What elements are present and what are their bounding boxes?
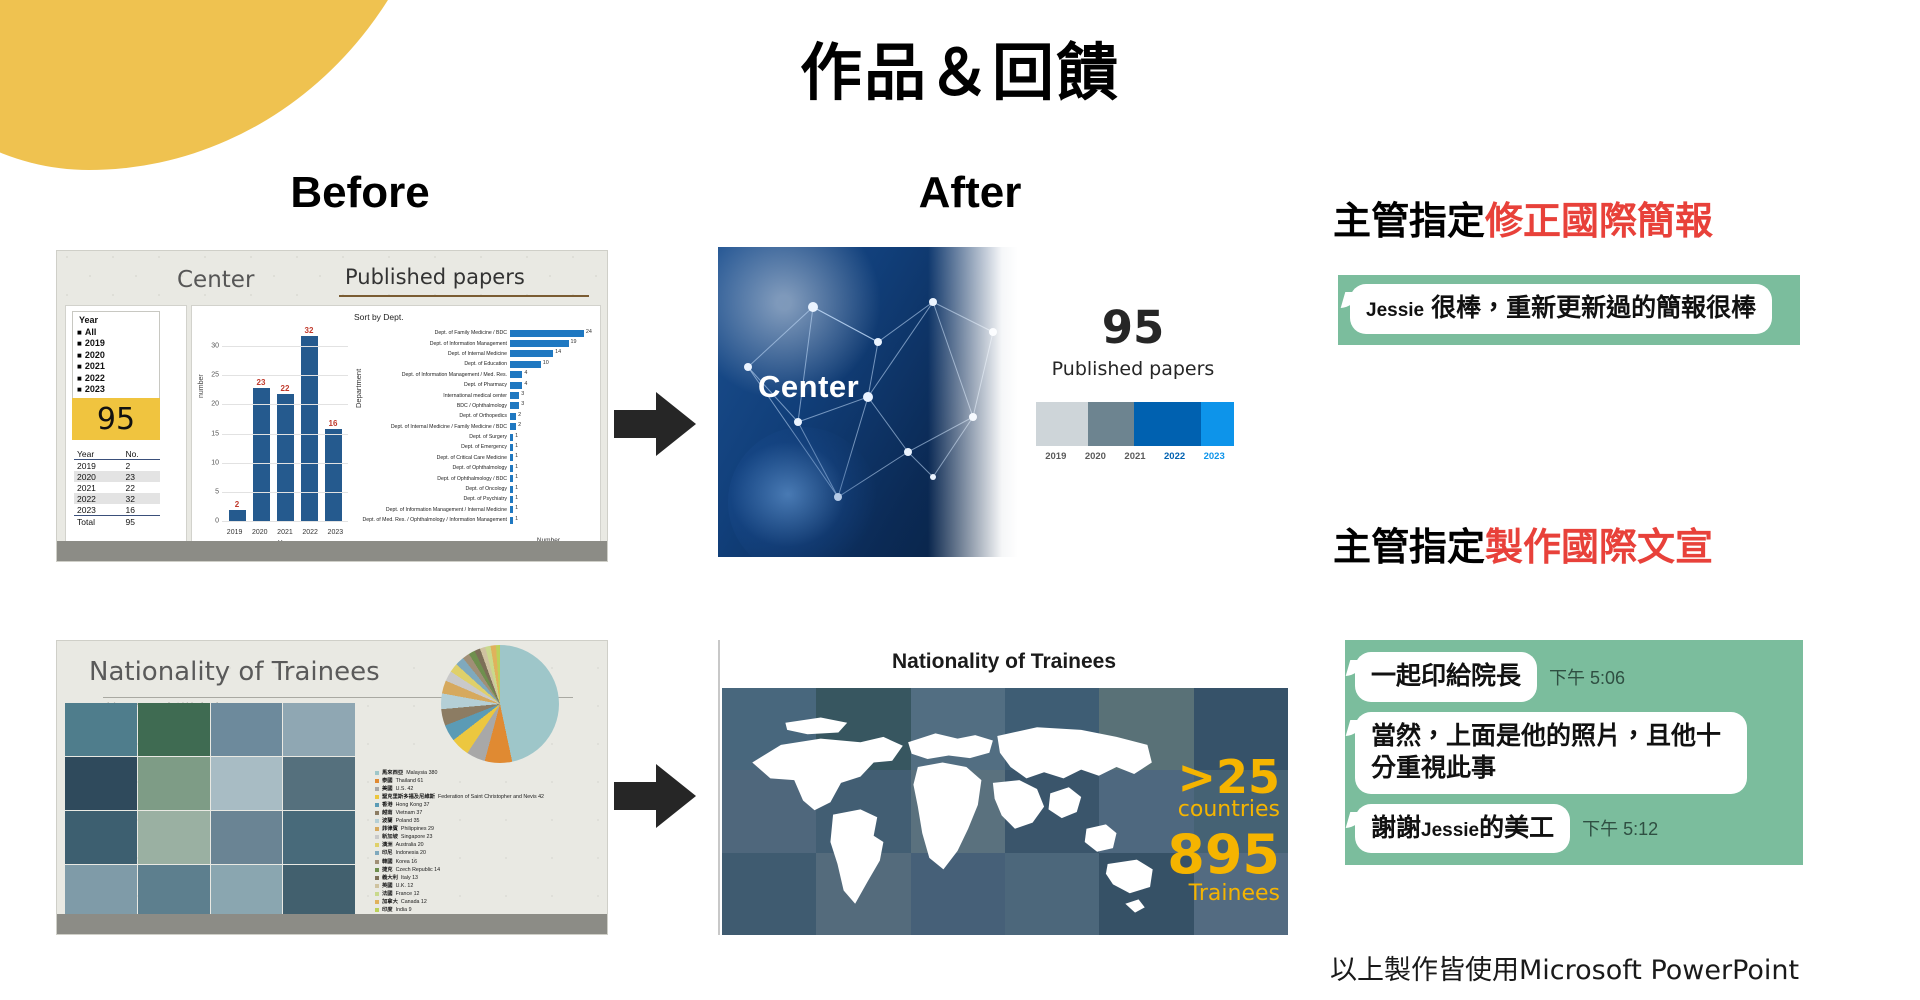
dept-bar-value: 24 — [586, 329, 592, 335]
dept-bar-value: 1 — [515, 443, 518, 449]
collage-tile — [138, 865, 210, 918]
legend-item: 印度India 9 — [375, 906, 605, 914]
legend-label-zh: 泰國 — [382, 777, 393, 785]
bar-value-label: 22 — [281, 384, 290, 393]
dept-bar — [510, 517, 513, 524]
collage-tile — [138, 811, 210, 864]
chat-bubble: 當然，上面是他的照片，且他十分重視此事 — [1355, 712, 1747, 794]
legend-item: 捷克Czech Republic 14 — [375, 866, 605, 874]
arrow-right-icon — [612, 760, 698, 832]
chat-sender-name: Jessie — [1421, 820, 1479, 841]
legend-label-en: Vietnam 37 — [396, 809, 423, 817]
papers-by-year-column-chart: number 223223216 302520151050 2019202020… — [200, 312, 350, 548]
x-tick-label: 2021 — [277, 529, 293, 536]
gridline: 25 — [222, 375, 348, 376]
chat-thread-1: Jessie 很棒，重新更新過的簡報很棒 — [1338, 275, 1800, 345]
dept-bar-track: 3 — [510, 402, 594, 409]
legend-label-en: Italy 13 — [401, 874, 418, 882]
legend-label-zh: 美國 — [382, 785, 393, 793]
dept-bar-row: Dept. of Ophthalmology / BDC1 — [362, 473, 594, 483]
dept-name: Dept. of Orthopedics — [362, 413, 510, 419]
cell-count: 22 — [123, 482, 160, 493]
cell-year: 2022 — [74, 493, 123, 504]
legend-swatch — [375, 892, 379, 896]
dept-bar-row: Dept. of Psychiatry1 — [362, 494, 594, 504]
dept-bar-track: 3 — [510, 392, 594, 399]
year-segment-label: 2023 — [1194, 451, 1234, 462]
legend-swatch — [375, 876, 379, 880]
cell-count: 32 — [123, 493, 160, 504]
published-papers-stat: 95 Published papers — [1023, 305, 1243, 380]
dept-bar-value: 4 — [524, 381, 527, 387]
dept-bar-value: 1 — [515, 474, 518, 480]
year-segment-label: 2019 — [1036, 451, 1076, 462]
legend-label-en: Poland 35 — [396, 817, 420, 825]
slide-title-center: Center — [177, 267, 254, 293]
legend-label-zh: 聖克里斯多福及尼維斯 — [382, 793, 435, 801]
legend-label-en: Thailand 61 — [396, 777, 424, 785]
legend-item: 義大利Italy 13 — [375, 874, 605, 882]
cell-year: 2023 — [74, 504, 123, 516]
dept-name: Dept. of Oncology — [362, 486, 510, 492]
legend-label-en: Australia 20 — [396, 841, 424, 849]
chat-message: 謝謝Jessie的美工 下午 5:12 — [1355, 804, 1793, 854]
dept-name: Dept. of Internal Medicine / Family Medi… — [362, 424, 510, 430]
table-row: Total95 — [74, 516, 160, 528]
collage-tile — [211, 757, 283, 810]
dept-bar-row: Dept. of Internal Medicine14 — [362, 349, 594, 359]
legend-label-zh: 捷克 — [382, 866, 393, 874]
dept-bar-row: International medical center3 — [362, 390, 594, 400]
dept-bar — [510, 486, 513, 493]
legend-label-zh: 英國 — [382, 882, 393, 890]
dept-name: Dept. of Internal Medicine — [362, 351, 510, 357]
x-tick-label: 2019 — [227, 529, 243, 536]
image-fade-edge — [928, 247, 1018, 557]
feedback-heading-2: 主管指定製作國際文宣 — [1333, 516, 1713, 571]
after-slide-published-papers[interactable]: Center 95 Published papers 2019202020212… — [718, 247, 1246, 557]
dept-bar-row: Dept. of Education10 — [362, 359, 594, 369]
legend-label-en: Federation of Saint Christopher and Nevi… — [438, 793, 544, 801]
world-map-photo-backdrop: >25 countries 895 Trainees — [722, 688, 1288, 935]
gridline: 30 — [222, 346, 348, 347]
dept-bar-value: 3 — [521, 401, 524, 407]
legend-label-zh: 澳洲 — [382, 841, 393, 849]
dept-bar — [510, 413, 516, 420]
dept-name: BDC / Ophthalmology — [362, 403, 510, 409]
dept-bar — [510, 371, 522, 378]
nationality-pie-chart — [441, 645, 559, 763]
chat-message: 一起印給院長 下午 5:06 — [1355, 652, 1793, 702]
dept-bar-row: Dept. of Pharmacy4 — [362, 380, 594, 390]
legend-label-zh: 義大利 — [382, 874, 398, 882]
feedback-heading-1-black: 主管指定 — [1333, 201, 1485, 243]
hero-word-center: Center — [758, 369, 859, 405]
cell-year: 2020 — [74, 471, 123, 482]
dept-name: Dept. of Emergency — [362, 444, 510, 450]
chat-sender-name: Jessie — [1366, 300, 1424, 321]
column-chart-ylabel: number — [198, 374, 205, 398]
hero-network-image: Center — [718, 247, 1018, 557]
column-label-before: Before — [160, 168, 560, 218]
collage-tile — [138, 757, 210, 810]
legend-item: 聖克里斯多福及尼維斯Federation of Saint Christophe… — [375, 793, 605, 801]
y-tick-label: 10 — [211, 459, 219, 466]
legend-item: 美國U.S. 42 — [375, 785, 605, 793]
collage-tile — [283, 703, 355, 756]
dept-bar-track: 14 — [510, 350, 594, 357]
dept-bar-track: 1 — [510, 475, 594, 482]
chat-message: Jessie 很棒，重新更新過的簡報很棒 — [1350, 284, 1786, 334]
legend-label-zh: 越南 — [382, 809, 393, 817]
dept-bar-track: 1 — [510, 454, 594, 461]
slide-title-published-papers: Published papers — [345, 265, 525, 289]
collage-tile — [65, 865, 137, 918]
gridline: 10 — [222, 463, 348, 464]
legend-label-en: Hong Kong 37 — [396, 801, 430, 809]
legend-swatch — [375, 851, 379, 855]
bar-value-label: 2 — [235, 500, 239, 509]
legend-label-zh: 韓國 — [382, 858, 393, 866]
charts-panel: number 223223216 302520151050 2019202020… — [191, 305, 601, 553]
dept-bar — [510, 350, 553, 357]
legend-label-zh: 菲律賓 — [382, 825, 398, 833]
nationality-legend: 馬來西亞Malaysia 380泰國Thailand 61美國U.S. 42聖克… — [375, 769, 605, 914]
year-filter-legend[interactable]: Year All 2019 2020 2021 2022 2023 — [72, 311, 160, 400]
legend-item: 韓國Korea 16 — [375, 858, 605, 866]
slide-canvas: 作品＆回饋 Before After Center Published pape… — [0, 0, 1920, 1000]
y-tick-label: 0 — [215, 518, 219, 525]
dept-bar-value: 1 — [515, 485, 518, 491]
dept-bar-row: Dept. of Oncology1 — [362, 484, 594, 494]
collage-tile — [65, 811, 137, 864]
year-filter-item[interactable]: All — [77, 327, 155, 339]
year-count-table: Year No. 20192202023202122202232202316To… — [74, 448, 160, 527]
year-filter-item[interactable]: 2019 — [77, 338, 155, 350]
table-row: 20192 — [74, 460, 160, 472]
dept-name: Dept. of Psychiatry — [362, 496, 510, 502]
legend-swatch — [375, 779, 379, 783]
legend-swatch — [375, 835, 379, 839]
legend-item: 印尼Indonesia 20 — [375, 849, 605, 857]
dept-name: Dept. of Information Management — [362, 341, 510, 347]
year-segment-label: 2022 — [1155, 451, 1195, 462]
dept-bar-track: 24 — [510, 330, 594, 337]
dept-bar-track: 4 — [510, 382, 594, 389]
feedback-heading-2-black: 主管指定 — [1333, 527, 1485, 569]
legend-item: 加拿大Canada 12 — [375, 898, 605, 906]
dept-bar-value: 1 — [515, 433, 518, 439]
dept-bar — [510, 506, 513, 513]
dept-bar-value: 2 — [518, 422, 521, 428]
legend-swatch — [375, 803, 379, 807]
legend-label-zh: 新加坡 — [382, 833, 398, 841]
legend-swatch — [375, 843, 379, 847]
y-tick-label: 15 — [211, 430, 219, 437]
countries-caption: countries — [1178, 800, 1280, 820]
filter-panel: Year All 2019 2020 2021 2022 2023 95 Yea… — [65, 305, 187, 553]
dept-bar — [510, 330, 584, 337]
y-tick-label: 20 — [211, 401, 219, 408]
after-slide-nationality[interactable]: Nationality of Trainees — [718, 640, 1288, 935]
legend-item: 新加坡Singapore 23 — [375, 833, 605, 841]
dept-bar-track: 1 — [510, 506, 594, 513]
dept-bar — [510, 402, 519, 409]
chat-bubble: Jessie 很棒，重新更新過的簡報很棒 — [1350, 284, 1772, 334]
chat-thread-2: 一起印給院長 下午 5:06 當然，上面是他的照片，且他十分重視此事 謝謝Jes… — [1345, 640, 1803, 865]
legend-label-en: Korea 16 — [396, 858, 418, 866]
legend-swatch — [375, 860, 379, 864]
legend-item: 澳洲Australia 20 — [375, 841, 605, 849]
chat-text: 當然，上面是他的照片，且他十分重視此事 — [1371, 722, 1721, 783]
dept-name: Dept. of Critical Care Medicine — [362, 455, 510, 461]
collage-tile — [283, 811, 355, 864]
y-tick-label: 30 — [211, 343, 219, 350]
dept-name: Dept. of Education — [362, 361, 510, 367]
cell-year: 2019 — [74, 460, 123, 472]
column-chart-plot-area: 223223216 302520151050 — [222, 318, 348, 522]
table-row: 202316 — [74, 504, 160, 516]
dept-bar-value: 4 — [524, 370, 527, 376]
dept-bar-value: 14 — [555, 349, 561, 355]
dept-bar — [510, 361, 541, 368]
legend-swatch — [375, 771, 379, 775]
collage-tile — [283, 757, 355, 810]
stat-caption: Published papers — [1023, 358, 1243, 380]
dept-bar — [510, 496, 513, 503]
dept-name: Dept. of Surgery — [362, 434, 510, 440]
legend-item: 菲律賓Philippines 29 — [375, 825, 605, 833]
legend-label-zh: 印尼 — [382, 849, 393, 857]
legend-label-zh: 印度 — [382, 906, 393, 914]
legend-item: 波蘭Poland 35 — [375, 817, 605, 825]
dept-bar-row: Dept. of Med. Res. / Ophthalmology / Inf… — [362, 515, 594, 525]
photo-collage — [65, 703, 355, 918]
legend-item: 香港Hong Kong 37 — [375, 801, 605, 809]
year-segment-label: 2021 — [1115, 451, 1155, 462]
dept-bar-value: 1 — [515, 453, 518, 459]
cell-count: 95 — [123, 516, 160, 528]
legend-swatch — [375, 827, 379, 831]
legend-label-zh: 加拿大 — [382, 898, 398, 906]
dept-bar-row: Dept. of Emergency1 — [362, 442, 594, 452]
chart-bar: 16 — [325, 429, 342, 522]
title-underline — [339, 295, 589, 297]
legend-item: 馬來西亞Malaysia 380 — [375, 769, 605, 777]
x-tick-label: 2022 — [302, 529, 318, 536]
total-kpi-box: 95 — [72, 398, 160, 440]
dept-name: Dept. of Pharmacy — [362, 382, 510, 388]
chart-bar: 22 — [277, 394, 294, 522]
chat-timestamp: 下午 5:12 — [1582, 815, 1658, 841]
dept-name: Dept. of Ophthalmology / BDC — [362, 476, 510, 482]
table-row: 202232 — [74, 493, 160, 504]
footnote-text: 以上製作皆使用Microsoft PowerPoint — [1330, 948, 1799, 987]
year-segment — [1201, 402, 1234, 446]
legend-item: 泰國Thailand 61 — [375, 777, 605, 785]
table-row: 202122 — [74, 482, 160, 493]
stat-number: 95 — [1023, 305, 1243, 350]
collage-tile — [211, 865, 283, 918]
legend-label-en: U.S. 42 — [396, 785, 414, 793]
chat-bubble: 謝謝Jessie的美工 — [1355, 804, 1570, 854]
legend-item: 越南Vietnam 37 — [375, 809, 605, 817]
powerpoint-chrome-strip — [57, 541, 607, 561]
dept-bar — [510, 382, 522, 389]
year-filter-item[interactable]: 2020 — [77, 350, 155, 362]
dept-name: Dept. of Ophthalmology — [362, 465, 510, 471]
dept-bar-row: Dept. of Information Management / Intern… — [362, 505, 594, 515]
dept-bar-row: Dept. of Information Management / Med. R… — [362, 370, 594, 380]
legend-item: 英國U.K. 12 — [375, 882, 605, 890]
legend-label-en: Singapore 23 — [401, 833, 433, 841]
collage-tile — [65, 703, 137, 756]
dept-bar-row: Dept. of Surgery1 — [362, 432, 594, 442]
chat-message: 當然，上面是他的照片，且他十分重視此事 — [1355, 712, 1793, 794]
dept-bar-value: 1 — [515, 505, 518, 511]
table-header-year: Year — [74, 448, 123, 460]
legend-swatch — [375, 884, 379, 888]
cell-count: 2 — [123, 460, 160, 472]
legend-label-en: India 9 — [396, 906, 412, 914]
chat-text: 很棒，重新更新過的簡報很棒 — [1431, 294, 1756, 322]
slide-title-nationality: Nationality of Trainees — [720, 650, 1288, 674]
chat-text-before: 謝謝 — [1371, 814, 1421, 842]
sort-by-dept-label: Sort by Dept. — [354, 312, 404, 322]
year-segmented-bar — [1036, 402, 1234, 446]
legend-swatch — [375, 868, 379, 872]
legend-swatch — [375, 900, 379, 904]
collage-tile — [283, 865, 355, 918]
dept-bar-value: 2 — [518, 412, 521, 418]
dept-bar-track: 2 — [510, 423, 594, 430]
dept-bar-row: Dept. of Critical Care Medicine1 — [362, 453, 594, 463]
legend-swatch — [375, 908, 379, 912]
arrow-right-icon — [612, 388, 698, 460]
chat-bubble: 一起印給院長 — [1355, 652, 1537, 702]
dept-name: Dept. of Information Management / Med. R… — [362, 372, 510, 378]
legend-label-en: Czech Republic 14 — [396, 866, 440, 874]
dept-bar-value: 3 — [521, 391, 524, 397]
dept-bar-row: Dept. of Information Management19 — [362, 338, 594, 348]
legend-label-zh: 馬來西亞 — [382, 769, 403, 777]
cell-count: 23 — [123, 471, 160, 482]
y-tick-label: 25 — [211, 372, 219, 379]
papers-by-dept-bar-chart: Sort by Dept. Department Dept. of Family… — [352, 312, 596, 548]
dept-bar-row: Dept. of Internal Medicine / Family Medi… — [362, 422, 594, 432]
year-filter-header: Year — [77, 315, 155, 327]
page-title: 作品＆回饋 — [0, 22, 1920, 112]
cell-year: Total — [74, 516, 123, 528]
dept-bar — [510, 434, 513, 441]
legend-label-en: France 12 — [396, 890, 420, 898]
dept-bar-track: 2 — [510, 413, 594, 420]
collage-tile — [65, 757, 137, 810]
gridline: 0 — [222, 521, 348, 522]
slide-title-nationality: Nationality of Trainees — [89, 657, 380, 687]
year-segment-label: 2020 — [1076, 451, 1116, 462]
before-slide-published-papers[interactable]: Center Published papers Year All 2019 20… — [56, 250, 608, 562]
trainees-caption: Trainees — [1189, 884, 1280, 904]
countries-value: >25 — [1177, 756, 1280, 798]
dept-bar — [510, 444, 513, 451]
legend-label-en: Indonesia 20 — [396, 849, 426, 857]
powerpoint-chrome-strip — [57, 914, 607, 934]
dept-bar — [510, 423, 516, 430]
legend-label-zh: 波蘭 — [382, 817, 393, 825]
cell-year: 2021 — [74, 482, 123, 493]
dept-bar-row: Dept. of Ophthalmology1 — [362, 463, 594, 473]
chart-bar: 32 — [301, 336, 318, 523]
legend-label-en: Philippines 29 — [401, 825, 434, 833]
chat-timestamp: 下午 5:06 — [1549, 664, 1625, 690]
table-row: 202023 — [74, 471, 160, 482]
gridline: 5 — [222, 492, 348, 493]
dept-bar — [510, 340, 569, 347]
dept-bar-row: BDC / Ophthalmology3 — [362, 401, 594, 411]
dept-bar-track: 10 — [510, 361, 594, 368]
dept-bar-value: 1 — [515, 464, 518, 470]
bar-value-label: 16 — [329, 419, 338, 428]
legend-label-en: U.K. 12 — [396, 882, 414, 890]
trainees-value: 895 — [1167, 830, 1280, 880]
dept-name: International medical center — [362, 393, 510, 399]
chat-text-after: 的美工 — [1479, 814, 1554, 842]
bar-value-label: 32 — [305, 326, 314, 335]
bar-value-label: 23 — [257, 378, 266, 387]
legend-label-zh: 香港 — [382, 801, 393, 809]
collage-tile — [211, 703, 283, 756]
dept-bar-value: 1 — [515, 516, 518, 522]
feedback-heading-1-red: 修正國際簡報 — [1485, 201, 1713, 243]
dept-bar-track: 1 — [510, 465, 594, 472]
dept-bar-track: 1 — [510, 496, 594, 503]
dept-name: Dept. of Family Medicine / BDC — [362, 330, 510, 336]
year-filter-item[interactable]: 2021 — [77, 361, 155, 373]
year-filter-item[interactable]: 2023 — [77, 384, 155, 396]
year-segment — [1040, 402, 1088, 446]
dept-bar — [510, 465, 513, 472]
dept-bar-track: 1 — [510, 434, 594, 441]
legend-swatch — [375, 795, 379, 799]
year-segment — [1088, 402, 1134, 446]
legend-swatch — [375, 819, 379, 823]
gridline: 15 — [222, 434, 348, 435]
x-tick-label: 2020 — [252, 529, 268, 536]
dept-bar — [510, 475, 513, 482]
before-slide-nationality[interactable]: Nationality of Trainees 按一下以新增文字 馬來西亞Mal… — [56, 640, 608, 935]
dept-bar-track: 19 — [510, 340, 594, 347]
collage-tile — [138, 703, 210, 756]
legend-label-zh: 法國 — [382, 890, 393, 898]
year-segment — [1134, 402, 1201, 446]
legend-swatch — [375, 787, 379, 791]
dept-bar — [510, 392, 519, 399]
column-label-after: After — [820, 168, 1120, 218]
feedback-heading-1: 主管指定修正國際簡報 — [1333, 190, 1713, 245]
dept-name: Dept. of Information Management / Intern… — [362, 507, 510, 513]
dept-bar-value: 1 — [515, 495, 518, 501]
dept-bar-track: 1 — [510, 486, 594, 493]
dept-bar-value: 19 — [571, 339, 577, 345]
collage-tile — [211, 811, 283, 864]
legend-item: 法國France 12 — [375, 890, 605, 898]
x-tick-label: 2023 — [328, 529, 344, 536]
year-filter-item[interactable]: 2022 — [77, 373, 155, 385]
y-tick-label: 5 — [215, 488, 219, 495]
dept-bar-track: 1 — [510, 517, 594, 524]
dept-bar-value: 10 — [543, 360, 549, 366]
